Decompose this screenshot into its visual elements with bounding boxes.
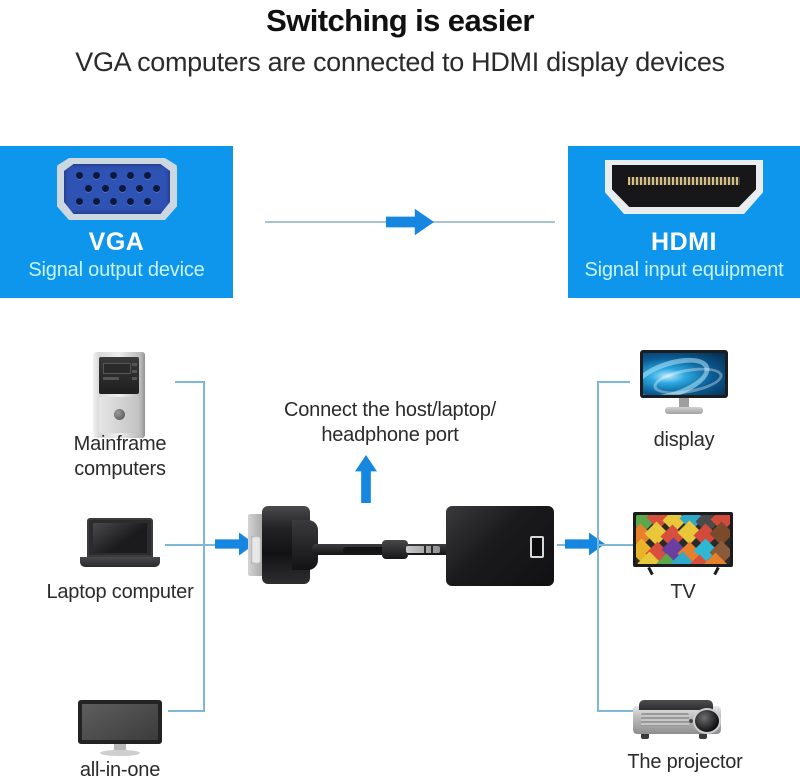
destination-label-tv: TV (643, 580, 723, 605)
adapter-callout-line2: headphone port (250, 423, 530, 448)
source-label-all-in-one: all-in-one (50, 758, 190, 783)
laptop-icon (80, 518, 160, 570)
all-in-one-monitor-icon (78, 700, 162, 758)
wire-bus-to-projector (597, 710, 633, 712)
page-title: Switching is easier (0, 2, 800, 40)
wire-left-bus-vertical (203, 381, 205, 711)
hdmi-panel-subtitle: Signal input equipment (568, 259, 800, 282)
vga-banner-panel: VGA Signal output device (0, 146, 233, 298)
page-subtitle: VGA computers are connected to HDMI disp… (0, 44, 800, 80)
arrow-up-icon (355, 455, 377, 503)
destination-label-projector: The projector (605, 750, 765, 775)
arrow-right-icon (386, 207, 434, 237)
source-label-mainframe: Mainframe computers (30, 432, 210, 482)
desktop-tower-icon (93, 352, 145, 438)
projector-icon (633, 700, 729, 740)
source-label-mainframe-line1: Mainframe (30, 432, 210, 457)
vga-to-hdmi-adapter-icon (248, 500, 558, 592)
wire-bus-to-tv (597, 544, 633, 546)
wire-laptop-to-bus (165, 544, 205, 546)
monitor-icon (640, 350, 728, 416)
source-label-laptop: Laptop computer (25, 580, 215, 605)
destination-label-display: display (614, 428, 754, 453)
television-icon (633, 512, 733, 574)
vga-panel-title: VGA (0, 228, 233, 257)
vga-panel-subtitle: Signal output device (0, 259, 233, 282)
adapter-callout: Connect the host/laptop/ headphone port (250, 398, 530, 448)
vga-port-icon (57, 158, 177, 220)
source-label-mainframe-line2: computers (30, 457, 210, 482)
header: Switching is easier VGA computers are co… (0, 0, 800, 80)
wire-aio-to-bus (168, 710, 205, 712)
hdmi-banner-panel: HDMI Signal input equipment (568, 146, 800, 298)
wire-tower-to-bus (175, 381, 205, 383)
wire-bus-to-display (597, 381, 630, 383)
hdmi-port-icon (605, 160, 763, 214)
wire-right-bus-vertical (597, 381, 599, 711)
hdmi-panel-title: HDMI (568, 228, 800, 257)
adapter-callout-line1: Connect the host/laptop/ (250, 398, 530, 423)
